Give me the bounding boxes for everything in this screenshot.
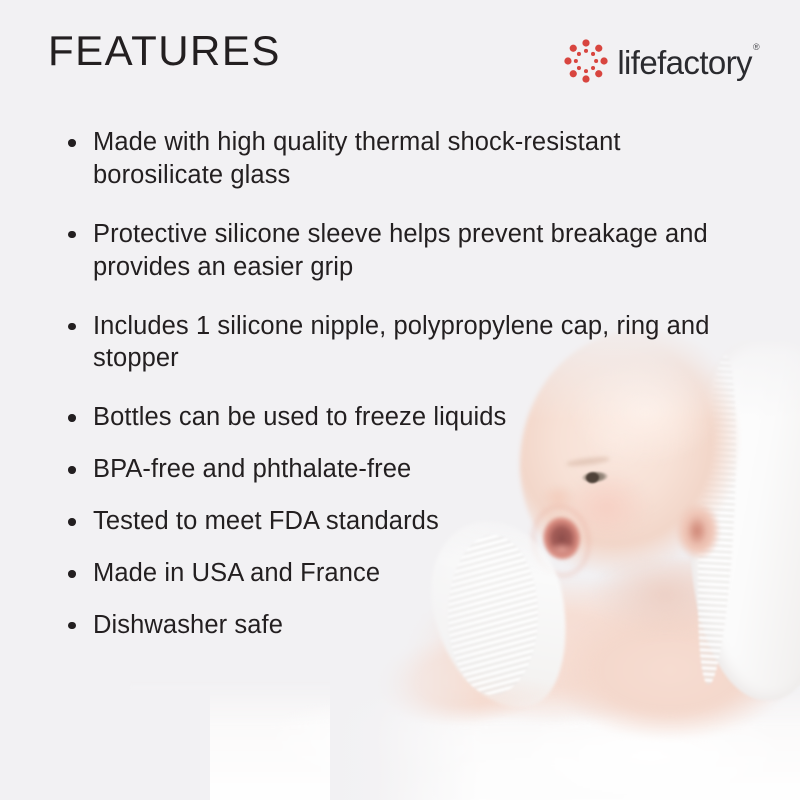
brand-name: lifefactory <box>617 44 752 81</box>
feature-item: Made in USA and France <box>48 557 738 590</box>
feature-item: Bottles can be used to freeze liquids <box>48 401 738 434</box>
brand-wordmark: lifefactory® <box>617 46 758 79</box>
lifefactory-dot-circle-icon <box>564 39 608 83</box>
photo-fade-bottom-left <box>0 690 210 800</box>
registered-trademark-icon: ® <box>753 42 759 52</box>
features-list: Made with high quality thermal shock-res… <box>48 126 748 642</box>
brand-logo: lifefactory® <box>564 38 758 84</box>
feature-item: Made with high quality thermal shock-res… <box>48 126 738 192</box>
blanket-shape <box>130 680 800 800</box>
page-title: FEATURES <box>48 30 281 72</box>
product-features-card: FEATURES <box>0 0 800 800</box>
feature-item: BPA-free and phthalate-free <box>48 453 738 486</box>
feature-item: Tested to meet FDA standards <box>48 505 738 538</box>
feature-item: Dishwasher safe <box>48 609 738 642</box>
feature-item: Includes 1 silicone nipple, polypropylen… <box>48 310 738 376</box>
feature-item: Protective silicone sleeve helps prevent… <box>48 218 738 284</box>
card-header: FEATURES <box>0 0 800 110</box>
